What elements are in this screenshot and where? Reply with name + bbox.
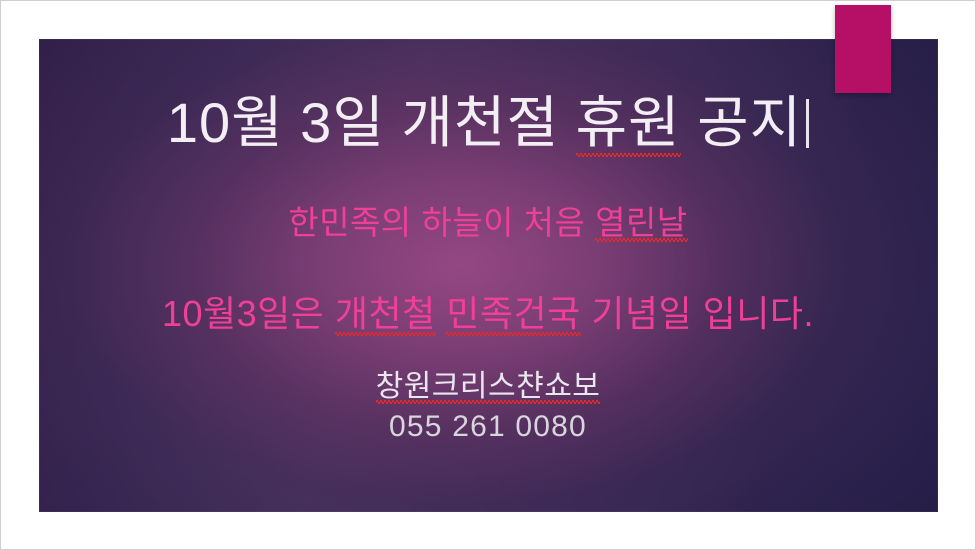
title-misspelled-word: 휴원 — [576, 95, 681, 151]
title-text-before: 10월 3일 개천절 — [167, 91, 576, 154]
body-text-middle — [436, 293, 447, 334]
slide-subtitle[interactable]: 한민족의 하늘이 처음 열린날 — [1, 206, 975, 239]
body-text-after: 기념일 입니다. — [581, 293, 814, 334]
slide-body-text[interactable]: 10월3일은 개천철 민족건국 기념일 입니다. — [1, 296, 975, 332]
phone-number[interactable]: 055 261 0080 — [1, 412, 975, 442]
body-misspelled-word-2: 민족건국 — [446, 296, 580, 332]
slide-canvas: 10월 3일 개천절 휴원 공지 한민족의 하늘이 처음 열린날 10월3일은 … — [0, 0, 976, 550]
title-text-after: 공지 — [681, 91, 803, 154]
slide-text-layer: 10월 3일 개천절 휴원 공지 한민족의 하늘이 처음 열린날 10월3일은 … — [1, 1, 975, 549]
slide-title[interactable]: 10월 3일 개천절 휴원 공지 — [1, 95, 975, 151]
accent-bar-decoration — [835, 5, 891, 93]
subtitle-text-before: 한민족의 하늘이 처음 — [288, 204, 595, 241]
organization-name[interactable]: 창원크리스챤쇼보 — [1, 372, 975, 402]
body-misspelled-word-1: 개천철 — [335, 296, 436, 332]
body-text-before: 10월3일은 — [162, 293, 335, 334]
text-caret — [806, 99, 809, 148]
subtitle-misspelled-word: 열린날 — [595, 206, 688, 239]
organization-misspelled-word: 창원크리스챤쇼보 — [376, 372, 601, 402]
